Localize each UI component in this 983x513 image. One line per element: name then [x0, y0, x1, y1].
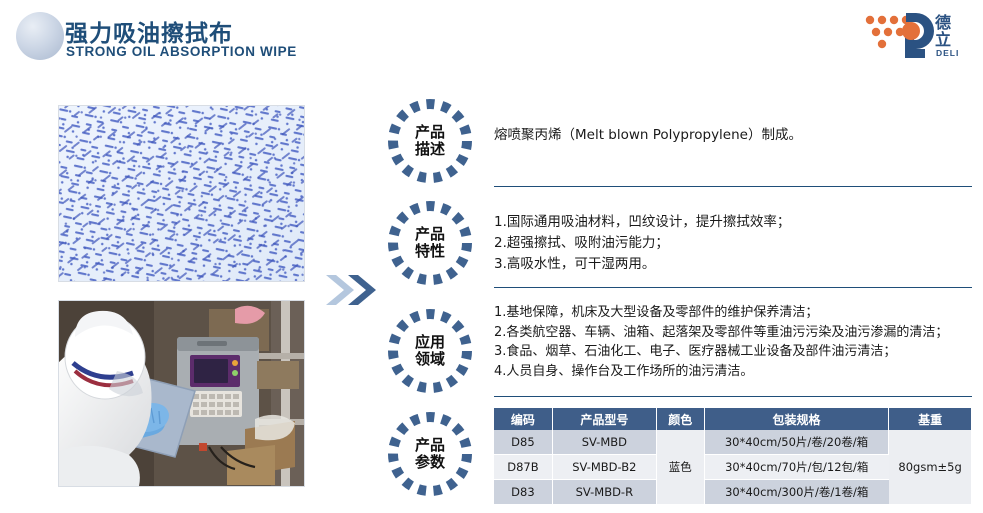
cell-packing: 30*40cm/50片/卷/20卷/箱 — [704, 430, 889, 455]
cell-packing: 30*40cm/300片/卷/1卷/箱 — [704, 480, 889, 505]
badge-label-line1: 产品 — [415, 226, 445, 243]
flow-arrow — [324, 270, 386, 310]
product-description-text: 熔喷聚丙烯（Melt blown Polypropylene）制成。 — [494, 125, 802, 146]
wipe-texture-illustration — [59, 106, 304, 281]
th-model: 产品型号 — [552, 408, 656, 430]
badge-product-features: 产品 特性 — [384, 197, 476, 289]
section-divider — [494, 287, 972, 288]
product-texture-image — [58, 105, 305, 282]
application-photo — [58, 300, 305, 487]
badge-label: 产品 参数 — [384, 408, 476, 500]
cell-code: D87B — [494, 455, 552, 480]
badge-label-line1: 应用 — [415, 334, 445, 351]
badge-label-line1: 产品 — [415, 124, 445, 141]
double-chevron-right-icon — [324, 270, 386, 310]
cell-model: SV-MBD-R — [552, 480, 656, 505]
badge-product-parameters: 产品 参数 — [384, 408, 476, 500]
page-title-en: STRONG OIL ABSORPTION WIPE — [66, 44, 297, 59]
badge-label-line2: 参数 — [415, 454, 445, 471]
section-divider — [494, 396, 972, 397]
table-row: D85 SV-MBD 蓝色 30*40cm/50片/卷/20卷/箱 80gsm±… — [494, 430, 971, 455]
page-title-cn: 强力吸油擦拭布 — [65, 14, 233, 48]
badge-label-line2: 领域 — [415, 351, 445, 368]
circle-gradient-icon — [16, 12, 64, 60]
badge-application-fields: 应用 领域 — [384, 305, 476, 397]
logo-brand-cn-2: 立 — [935, 30, 951, 49]
badge-label: 产品 描述 — [384, 95, 476, 187]
cell-code: D83 — [494, 480, 552, 505]
slide-root: 强力吸油擦拭布 STRONG OIL ABSORPTION WIPE 德 立 D… — [0, 0, 983, 513]
worker-cleaning-illustration — [59, 301, 304, 486]
cell-model: SV-MBD — [552, 430, 656, 455]
product-parameters-table: 编码 产品型号 颜色 包装规格 基重 D85 SV-MBD 蓝色 30*40cm… — [494, 408, 971, 505]
cell-color: 蓝色 — [656, 430, 704, 505]
table-header-row: 编码 产品型号 颜色 包装规格 基重 — [494, 408, 971, 430]
slide-header: 强力吸油擦拭布 STRONG OIL ABSORPTION WIPE 德 立 D… — [0, 0, 983, 72]
th-basis-weight: 基重 — [889, 408, 971, 430]
cell-packing: 30*40cm/70片/包/12包/箱 — [704, 455, 889, 480]
cell-model: SV-MBD-B2 — [552, 455, 656, 480]
th-color: 颜色 — [656, 408, 704, 430]
badge-label-line1: 产品 — [415, 437, 445, 454]
application-fields-text: 1.基地保障，机床及大型设备及零部件的维护保养清洁； 2.各类航空器、车辆、油箱… — [494, 303, 948, 381]
logo-brand-en: DELI — [936, 48, 959, 58]
cell-basis-weight: 80gsm±5g — [889, 430, 971, 505]
deli-logo: 德 立 DELI — [851, 8, 971, 60]
th-code: 编码 — [494, 408, 552, 430]
th-packing: 包装规格 — [704, 408, 889, 430]
badge-label-line2: 描述 — [415, 141, 445, 158]
badge-product-description: 产品 描述 — [384, 95, 476, 187]
section-divider — [494, 186, 972, 187]
product-features-text: 1.国际通用吸油材料，凹纹设计，提升擦拭效率； 2.超强擦拭、吸附油污能力； 3… — [494, 212, 790, 275]
cell-code: D85 — [494, 430, 552, 455]
deli-d-dots-logo-icon: 德 立 DELI — [851, 8, 971, 60]
badge-label: 应用 领域 — [384, 305, 476, 397]
badge-label: 产品 特性 — [384, 197, 476, 289]
badge-label-line2: 特性 — [415, 243, 445, 260]
